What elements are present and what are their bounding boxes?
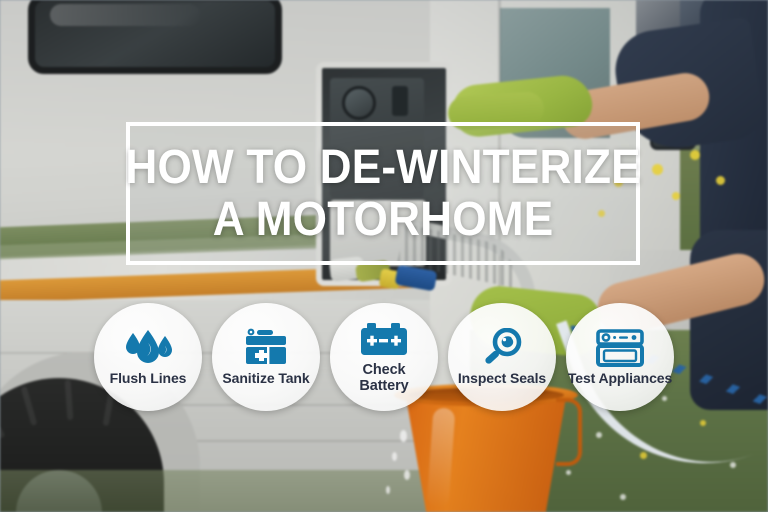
magnifier-icon — [481, 328, 523, 368]
battery-icon — [359, 320, 409, 360]
hero-graphic: HOW TO DE-WINTERIZE A MOTORHOME Flush Li… — [0, 0, 768, 512]
title-line-1: HOW TO DE-WINTERIZE — [125, 142, 640, 194]
badge-label: Sanitize Tank — [222, 371, 309, 386]
badge-label: Test Appliances — [568, 371, 672, 386]
badge-label: Inspect Seals — [458, 371, 546, 386]
toolbox-kit-icon — [243, 328, 289, 368]
badge-label-2: Battery — [359, 379, 408, 394]
badge-label: Flush Lines — [110, 371, 187, 386]
badge-sanitize-tank[interactable]: Sanitize Tank — [212, 303, 320, 411]
badge-flush-lines[interactable]: Flush Lines — [94, 303, 202, 411]
oven-icon — [596, 328, 644, 368]
step-badge-row: Flush Lines Sanitize Tank — [0, 303, 768, 415]
badge-label: Check — [362, 363, 405, 378]
badge-check-battery[interactable]: Check Battery — [330, 303, 438, 411]
page-title: HOW TO DE-WINTERIZE A MOTORHOME — [126, 118, 640, 270]
title-line-2: A MOTORHOME — [213, 194, 554, 246]
badge-inspect-seals[interactable]: Inspect Seals — [448, 303, 556, 411]
badge-test-appliances[interactable]: Test Appliances — [566, 303, 674, 411]
water-drops-icon — [121, 328, 175, 368]
